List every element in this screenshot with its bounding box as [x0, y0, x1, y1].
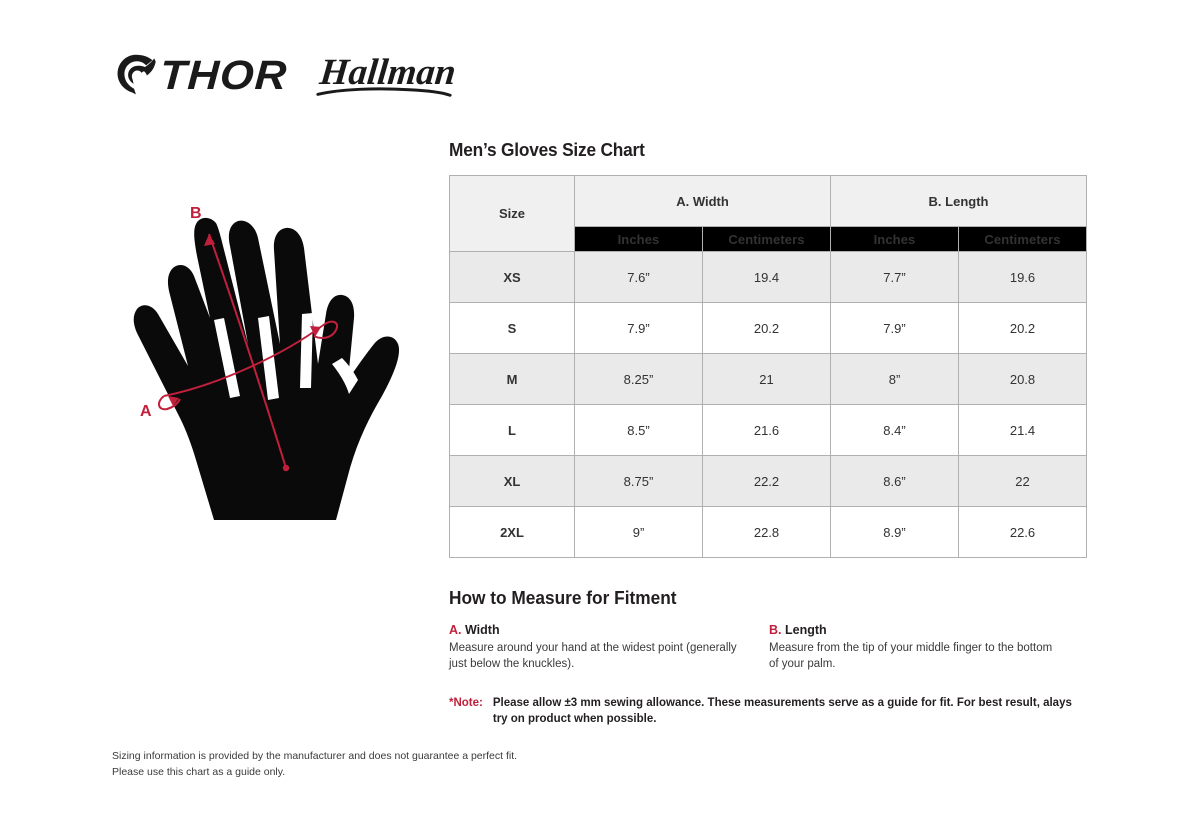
- cell-size: M: [450, 354, 575, 405]
- cell-length-inches: 8.6”: [831, 456, 959, 507]
- header-group-width: A. Width: [575, 176, 831, 227]
- measure-marker: A.: [449, 623, 462, 637]
- cell-size: 2XL: [450, 507, 575, 558]
- cell-length-centimeters: 20.8: [959, 354, 1087, 405]
- hallman-logo: Hallman: [320, 54, 456, 97]
- header-width-centimeters: Centimeters: [703, 227, 831, 252]
- hallman-swash-icon: [316, 87, 452, 98]
- cell-size: XL: [450, 456, 575, 507]
- hand-silhouette: [134, 218, 399, 520]
- cell-width-centimeters: 21.6: [703, 405, 831, 456]
- cell-length-inches: 7.7”: [831, 252, 959, 303]
- footer-line-1: Sizing information is provided by the ma…: [112, 748, 672, 764]
- measure-heading: B. Length: [769, 623, 1061, 637]
- cell-length-centimeters: 20.2: [959, 303, 1087, 354]
- size-chart-table: Size A. Width B. Length Inches Centimete…: [449, 175, 1087, 558]
- cell-length-inches: 8.9”: [831, 507, 959, 558]
- cell-length-inches: 8”: [831, 354, 959, 405]
- thor-helmet-icon: [112, 52, 158, 98]
- cell-size: S: [450, 303, 575, 354]
- measure-name: Length: [785, 623, 827, 637]
- annotation-a-label: A: [140, 403, 152, 420]
- header-length-centimeters: Centimeters: [959, 227, 1087, 252]
- cell-width-centimeters: 22.8: [703, 507, 831, 558]
- measure-description: Measure from the tip of your middle fing…: [769, 640, 1061, 673]
- measure-section-title: How to Measure for Fitment: [449, 588, 1063, 609]
- footer-disclaimer: Sizing information is provided by the ma…: [112, 748, 672, 781]
- header-row-groups: Size A. Width B. Length: [450, 176, 1087, 227]
- cell-width-inches: 8.75”: [575, 456, 703, 507]
- cell-width-centimeters: 19.4: [703, 252, 831, 303]
- measure-marker: B.: [769, 623, 782, 637]
- cell-width-inches: 8.25”: [575, 354, 703, 405]
- hallman-wordmark: Hallman: [318, 54, 458, 91]
- measure-description: Measure around your hand at the widest p…: [449, 640, 741, 673]
- table-body: XS 7.6” 19.4 7.7” 19.6 S 7.9” 20.2 7.9” …: [450, 252, 1087, 558]
- measure-item-width: A. Width Measure around your hand at the…: [449, 623, 769, 673]
- thor-wordmark: THOR: [159, 55, 289, 96]
- brand-logo-row: THOR Hallman: [112, 52, 456, 98]
- cell-length-centimeters: 19.6: [959, 252, 1087, 303]
- cell-width-centimeters: 20.2: [703, 303, 831, 354]
- cell-length-inches: 8.4”: [831, 405, 959, 456]
- thor-logo: THOR: [112, 52, 280, 98]
- cell-length-centimeters: 22: [959, 456, 1087, 507]
- measure-item-length: B. Length Measure from the tip of your m…: [769, 623, 1089, 673]
- note-block: *Note: Please allow ±3 mm sewing allowan…: [449, 695, 1089, 728]
- annotation-b-label: B: [190, 205, 202, 222]
- content-column: Men’s Gloves Size Chart Size A. Width B.…: [449, 140, 1089, 728]
- page-title: Men’s Gloves Size Chart: [449, 140, 1063, 161]
- cell-width-centimeters: 22.2: [703, 456, 831, 507]
- table-row: L 8.5” 21.6 8.4” 21.4: [450, 405, 1087, 456]
- measure-columns: A. Width Measure around your hand at the…: [449, 623, 1089, 673]
- table-row: XS 7.6” 19.4 7.7” 19.6: [450, 252, 1087, 303]
- measure-heading: A. Width: [449, 623, 741, 637]
- header-size: Size: [450, 176, 575, 252]
- cell-width-inches: 8.5”: [575, 405, 703, 456]
- cell-length-centimeters: 21.4: [959, 405, 1087, 456]
- cell-size: L: [450, 405, 575, 456]
- cell-width-inches: 7.6”: [575, 252, 703, 303]
- footer-line-2: Please use this chart as a guide only.: [112, 764, 672, 780]
- table-row: S 7.9” 20.2 7.9” 20.2: [450, 303, 1087, 354]
- hand-measurement-diagram: B A: [118, 168, 438, 538]
- cell-width-inches: 9”: [575, 507, 703, 558]
- cell-width-inches: 7.9”: [575, 303, 703, 354]
- header-width-inches: Inches: [575, 227, 703, 252]
- measure-name: Width: [465, 623, 500, 637]
- table-row: M 8.25” 21 8” 20.8: [450, 354, 1087, 405]
- size-chart-page: THOR Hallman B: [0, 0, 1200, 820]
- cell-size: XS: [450, 252, 575, 303]
- header-group-length: B. Length: [831, 176, 1087, 227]
- table-row: 2XL 9” 22.8 8.9” 22.6: [450, 507, 1087, 558]
- header-length-inches: Inches: [831, 227, 959, 252]
- table-row: XL 8.75” 22.2 8.6” 22: [450, 456, 1087, 507]
- cell-length-inches: 7.9”: [831, 303, 959, 354]
- note-label: *Note:: [449, 695, 483, 728]
- cell-length-centimeters: 22.6: [959, 507, 1087, 558]
- note-text: Please allow ±3 mm sewing allowance. The…: [493, 695, 1089, 728]
- table-header: Size A. Width B. Length Inches Centimete…: [450, 176, 1087, 252]
- cell-width-centimeters: 21: [703, 354, 831, 405]
